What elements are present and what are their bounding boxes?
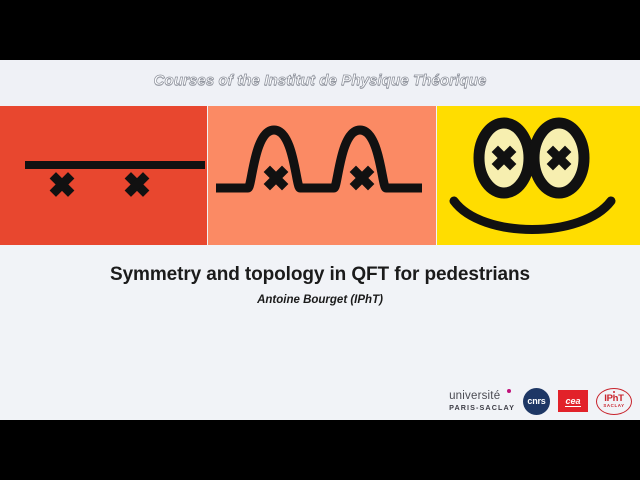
smiley-face-graphic bbox=[437, 106, 640, 245]
logo-row: université PARIS-SACLAY cnrs cea IPhT SA… bbox=[449, 386, 632, 416]
presentation-author: Antoine Bourget (IPhT) bbox=[0, 294, 640, 306]
logo-ipht: IPhT SACLAY bbox=[596, 388, 632, 415]
logo-cea: cea bbox=[558, 390, 588, 412]
cnrs-wordmark: cnrs bbox=[527, 396, 545, 406]
ups-line1: université bbox=[449, 391, 500, 403]
flat-line-graphic bbox=[0, 106, 207, 245]
letterbox-bottom bbox=[0, 420, 640, 480]
header-strip: Courses of the Institut de Physique Théo… bbox=[0, 60, 640, 106]
ipht-dot-icon bbox=[613, 391, 615, 393]
ups-star-icon bbox=[507, 389, 511, 393]
band-smiley bbox=[437, 106, 640, 245]
logo-universite-paris-saclay: université PARIS-SACLAY bbox=[449, 391, 515, 411]
ups-line2: PARIS-SACLAY bbox=[449, 404, 515, 411]
bumpy-line-graphic bbox=[208, 106, 436, 245]
band-bumpy bbox=[208, 106, 436, 245]
band-flat bbox=[0, 106, 207, 245]
band-group bbox=[0, 106, 640, 245]
presentation-title: Symmetry and topology in QFT for pedestr… bbox=[0, 264, 640, 286]
ipht-line2: SACLAY bbox=[603, 404, 624, 408]
logo-cnrs: cnrs bbox=[523, 388, 550, 415]
letterbox-top bbox=[0, 0, 640, 60]
ipht-line1: IPhT bbox=[604, 394, 623, 404]
slide-canvas: Courses of the Institut de Physique Théo… bbox=[0, 60, 640, 420]
cea-underline bbox=[565, 406, 581, 407]
header-banner-title: Courses of the Institut de Physique Théo… bbox=[0, 72, 640, 89]
video-frame: Courses of the Institut de Physique Théo… bbox=[0, 0, 640, 480]
cea-wordmark: cea bbox=[565, 396, 580, 406]
